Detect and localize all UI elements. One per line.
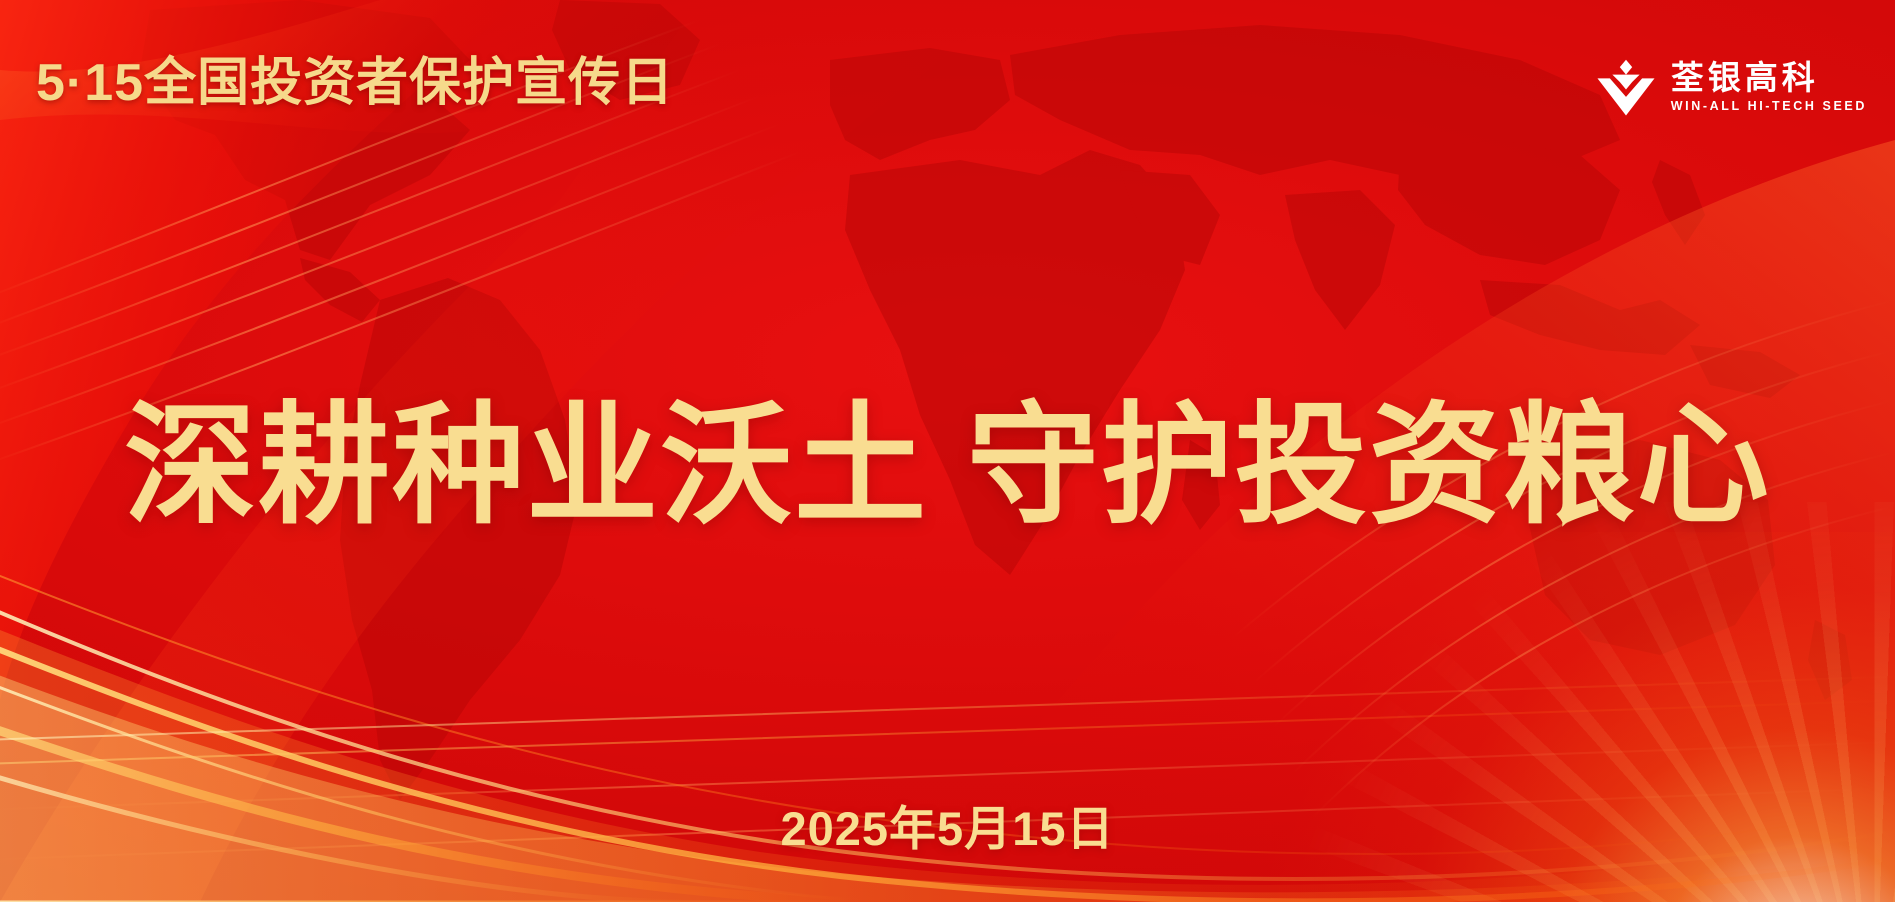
campaign-title: 5·15全国投资者保护宣传日 [36,57,674,109]
brand-name-cn: 荃银高科 [1671,60,1819,97]
main-slogan: 深耕种业沃土 守护投资粮心 [0,400,1895,532]
investor-protection-banner: 5·15全国投资者保护宣传日 荃银高科 WIN-ALL HI-TECH SEED… [0,0,1895,902]
event-date: 2025年5月15日 [0,805,1895,852]
brand-lockup[interactable]: 荃银高科 WIN-ALL HI-TECH SEED [1595,56,1867,118]
win-all-chevron-logo-icon [1595,56,1657,118]
brand-name-en: WIN-ALL HI-TECH SEED [1671,100,1867,114]
brand-text: 荃银高科 WIN-ALL HI-TECH SEED [1671,60,1867,114]
